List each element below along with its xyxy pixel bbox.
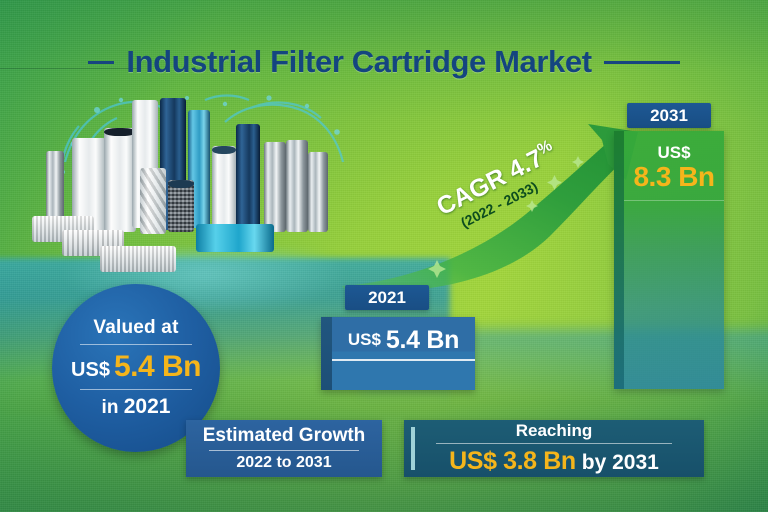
bar-2021-value: 5.4 Bn	[386, 326, 459, 355]
reaching-panel-accent-bar	[411, 427, 415, 470]
filter-cartridge-lying	[100, 246, 176, 272]
bar-2031-side-face	[614, 131, 624, 389]
estimated-growth-period: 2022 to 2031	[236, 454, 331, 472]
page-title-text: Industrial Filter Cartridge Market	[126, 44, 591, 80]
bar-2021-value-group: US$ 5.4 Bn	[332, 321, 475, 359]
bar-2031-value: 8.3 Bn	[633, 162, 714, 191]
estimated-growth-title: Estimated Growth	[203, 425, 366, 447]
valuation-badge-year-line: in 2021	[102, 395, 171, 419]
estimated-growth-divider	[209, 450, 359, 451]
cartridge-cap	[212, 146, 236, 154]
bar-label-2021: 2021	[345, 285, 429, 310]
valuation-badge-currency: US$	[71, 359, 110, 382]
reaching-panel-divider	[436, 443, 672, 444]
infographic-canvas: Industrial Filter Cartridge Market CAGR …	[0, 0, 768, 512]
bar-2021-divider	[332, 359, 475, 361]
bar-2021-side-face	[321, 317, 332, 390]
reaching-panel-value: US$ 3.8 Bn	[449, 447, 576, 476]
valuation-badge-title: Valued at	[93, 317, 178, 339]
valuation-badge-value: 5.4 Bn	[114, 350, 201, 384]
bar-2031-value-group: US$ 8.3 Bn	[624, 137, 724, 199]
reaching-panel-title: Reaching	[516, 421, 593, 441]
bar-label-2031: 2031	[627, 103, 711, 128]
cagr-growth-arrow-icon	[340, 118, 660, 293]
valuation-badge-divider-bottom	[80, 389, 192, 390]
bar-2031: US$ 8.3 Bn	[614, 131, 724, 389]
filter-cartridge	[264, 142, 286, 232]
filter-cartridge	[168, 180, 194, 232]
estimated-growth-panel: Estimated Growth 2022 to 2031	[186, 420, 382, 477]
filter-cartridge	[236, 124, 260, 230]
valuation-badge-value-group: US$ 5.4 Bn	[71, 350, 201, 384]
reaching-panel-suffix: by 2031	[582, 451, 659, 475]
valuation-badge-year: 2021	[124, 395, 171, 418]
product-image-filter-cartridges	[28, 96, 333, 286]
title-rule-right-icon	[604, 61, 680, 64]
filter-cartridge	[140, 168, 166, 234]
bar-2021: US$ 5.4 Bn	[321, 317, 475, 390]
cartridge-cap	[168, 180, 194, 188]
filter-cartridge	[308, 152, 328, 232]
filter-cartridge-lying	[196, 224, 274, 252]
title-rule-left-icon	[88, 61, 114, 64]
reaching-value-panel: Reaching US$ 3.8 Bn by 2031	[404, 420, 704, 477]
filter-cartridge	[286, 140, 308, 232]
bar-2031-divider	[624, 200, 724, 201]
filter-cartridge	[212, 146, 236, 230]
valuation-badge-divider-top	[80, 344, 192, 345]
bar-2021-currency: US$	[348, 330, 381, 350]
valuation-badge-year-prefix: in	[102, 397, 124, 418]
page-title: Industrial Filter Cartridge Market	[0, 44, 768, 80]
bar-2031-currency: US$	[657, 144, 690, 162]
reaching-panel-value-group: US$ 3.8 Bn by 2031	[449, 447, 659, 476]
